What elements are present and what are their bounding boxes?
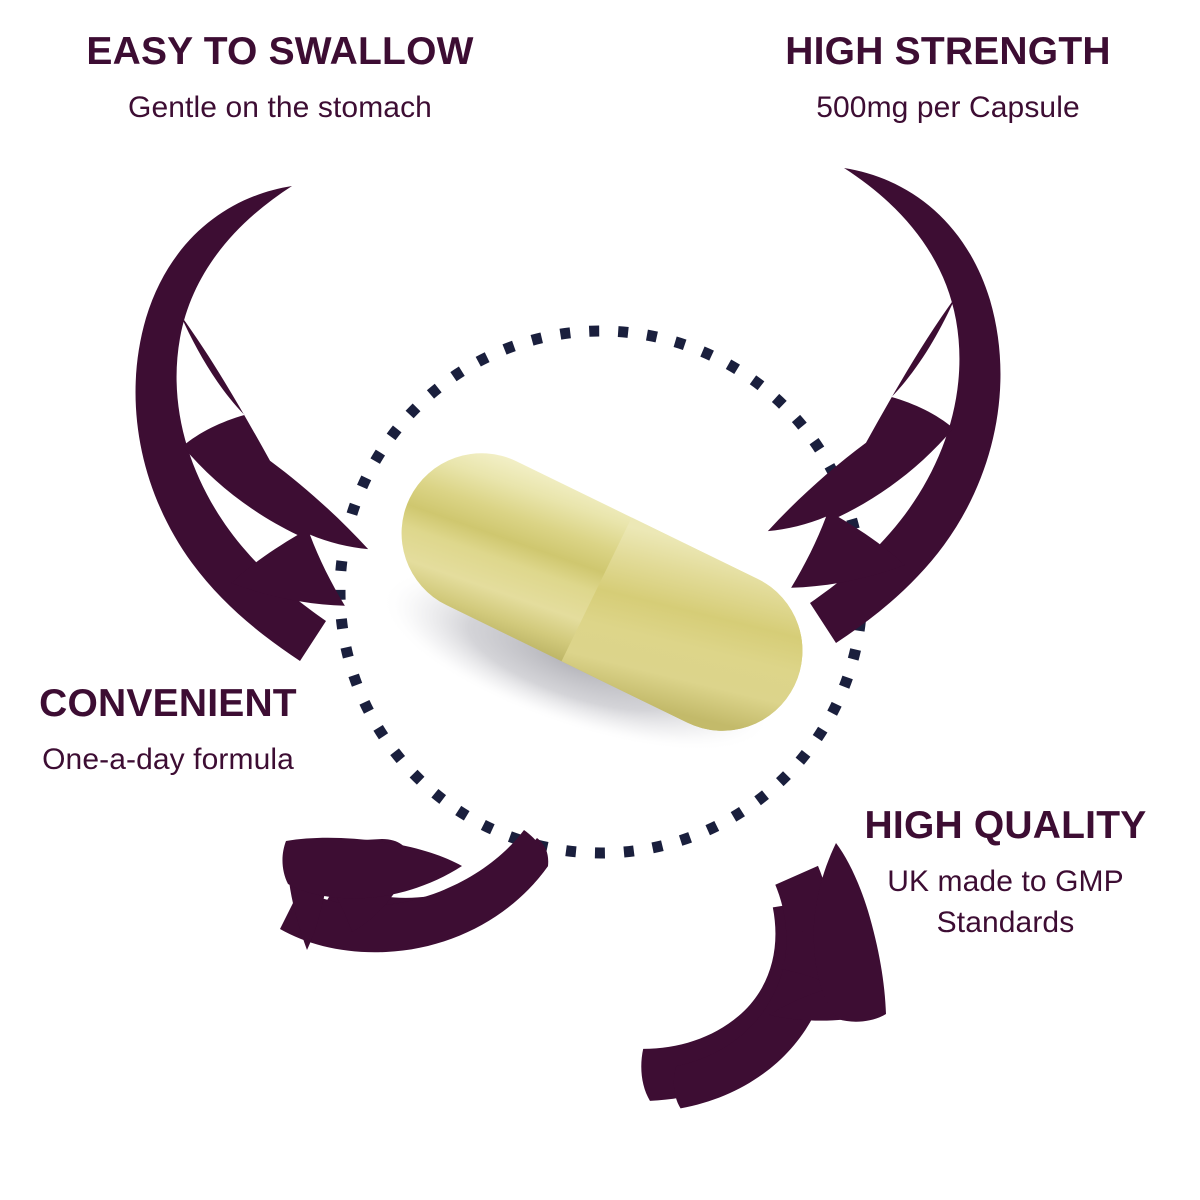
- capsule-image: [340, 330, 865, 855]
- arrow-bottom-right-icon: [609, 843, 886, 1109]
- infographic-canvas: EASY TO SWALLOW Gentle on the stomach HI…: [0, 0, 1200, 1200]
